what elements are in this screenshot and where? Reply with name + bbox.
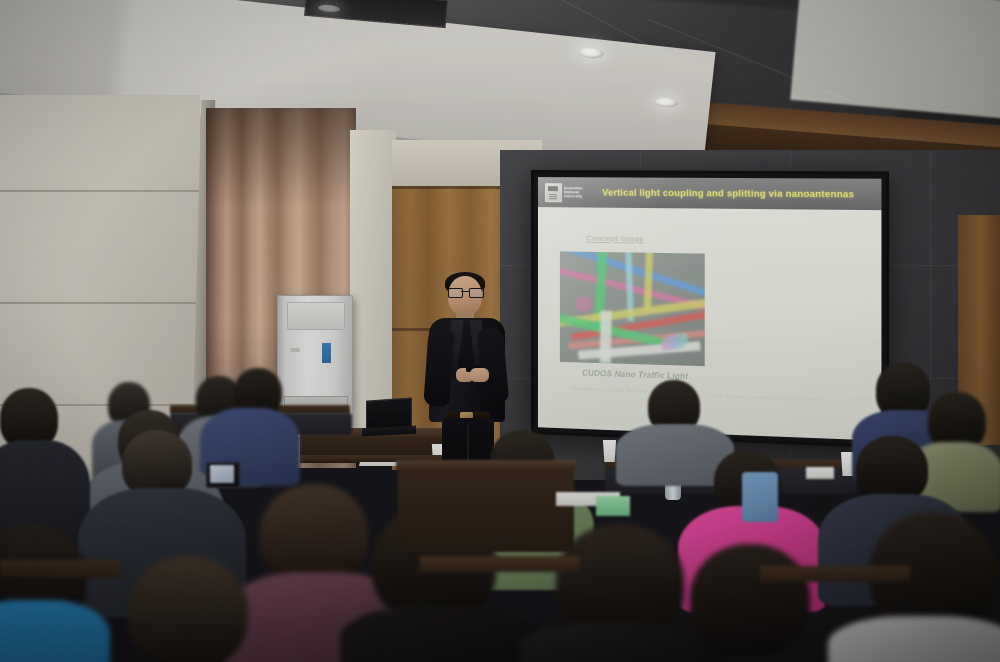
slide-section-label: Concept image: [586, 234, 644, 244]
draped-garment: [742, 472, 778, 522]
slide-credit-reference: Guo, Rui et al., Sci. Adv. 3(7), (2017) …: [713, 393, 820, 402]
presenter-glasses: [448, 288, 482, 296]
front-bench-rail: [760, 566, 910, 582]
handout-paper: [806, 467, 834, 479]
slide-header-bar: Australian National University Vertical …: [538, 177, 882, 210]
bench-desk-block: [398, 466, 574, 552]
slide-surface: Australian National University Vertical …: [538, 177, 882, 441]
beam-yellow-vertical: [644, 251, 653, 309]
audience-body-white-jacket: [828, 616, 1000, 662]
glasses-lens-left: [448, 288, 463, 298]
wall-panel-seam: [0, 190, 210, 192]
smartphone-screen: [210, 465, 234, 483]
ceiling-white-tile: [790, 0, 1000, 120]
beam-pink-node: [576, 296, 592, 312]
slide-title: Vertical light coupling and splitting vi…: [587, 187, 881, 199]
glasses-lens-right: [469, 288, 484, 298]
wall-panel-seam: [0, 302, 210, 304]
glasses-bridge: [461, 291, 469, 292]
ac-logo-plate: [290, 348, 300, 352]
projection-screen[interactable]: Australian National University Vertical …: [531, 170, 889, 448]
front-bench-rail: [420, 556, 580, 572]
audience-head: [690, 544, 810, 656]
audience-head: [128, 556, 248, 662]
anu-line-3: University: [564, 194, 583, 198]
green-booklet: [596, 496, 630, 516]
ac-brand-badge: [322, 343, 331, 363]
anu-logo: Australian National University: [545, 181, 587, 203]
paper-cup: [602, 440, 617, 462]
audience-head: [260, 484, 368, 586]
anu-logo-text: Australian National University: [564, 186, 583, 199]
anu-crest-icon: [545, 183, 562, 202]
presenter-hand-right: [470, 368, 489, 382]
concept-image: [560, 251, 705, 366]
lecture-hall-scene: Australian National University Vertical …: [0, 0, 1000, 662]
bench-desk-top: [396, 460, 576, 470]
presenter-arm-left: [423, 327, 454, 407]
front-bench-rail: [0, 560, 120, 578]
audience-body: [340, 606, 540, 662]
ac-air-vent: [287, 302, 345, 330]
